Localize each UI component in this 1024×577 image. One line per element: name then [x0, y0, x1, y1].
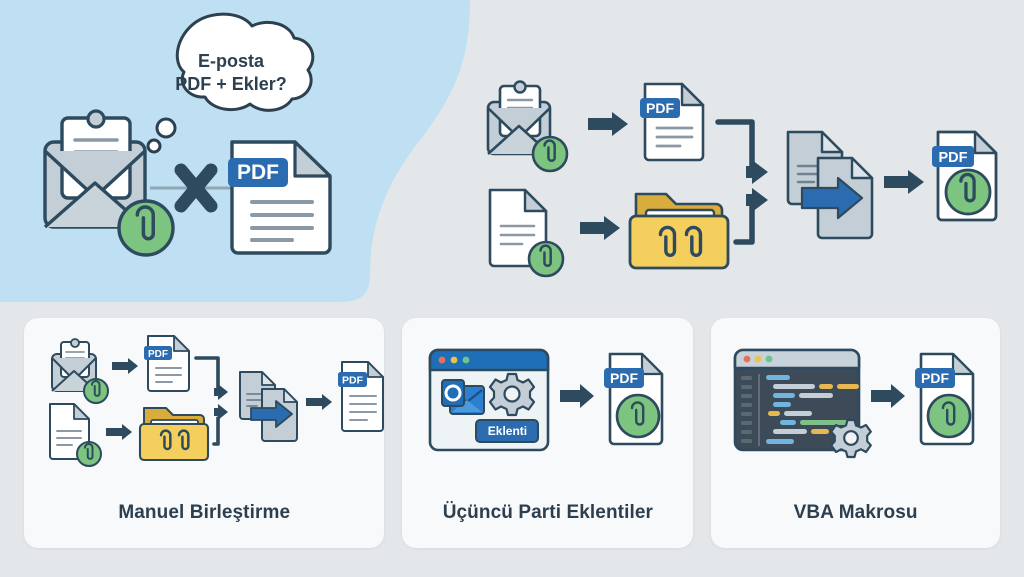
result-pdf-with-attachment-icon: PDF	[932, 132, 996, 220]
editor-dot-maximize	[766, 356, 773, 363]
elbow-connector-top	[718, 122, 752, 170]
eklenti-button-label[interactable]: Eklenti	[476, 420, 538, 442]
svg-text:PDF: PDF	[148, 349, 168, 360]
window-dot-maximize	[463, 357, 470, 364]
paperclip-badge-icon	[946, 170, 990, 214]
card-label-ucuncu-parti-eklentiler: Üçüncü Parti Eklentiler	[402, 502, 693, 524]
card-3-arrow	[871, 384, 905, 408]
card-ucuncu-parti-eklentiler[interactable]: PDF Eklenti Üçüncü Parti Eklentiler	[402, 318, 693, 548]
card-2-artwork: PDF Eklenti	[402, 328, 693, 468]
paperclip-badge-icon	[84, 379, 108, 403]
card-pdf-document-icon: PDF	[144, 336, 189, 391]
thought-bubble-small-1	[157, 119, 175, 137]
flow-envelope-icon	[488, 82, 567, 172]
card-arrow-2	[106, 424, 132, 440]
paperclip-badge-icon	[119, 201, 173, 255]
card-label-manuel-birlestirme: Manuel Birleştirme	[24, 502, 384, 524]
card-2-arrow	[560, 384, 594, 408]
card-manuel-birlestirme[interactable]: PDF	[24, 318, 384, 548]
thought-line-2: PDF + Ekler?	[155, 73, 307, 96]
paperclip-badge-icon	[533, 137, 567, 171]
flow-pdf-document-icon: PDF	[640, 84, 703, 160]
window-dot-minimize	[451, 357, 458, 364]
paperclip-badge-icon	[77, 442, 101, 466]
card-elbow-bottom	[214, 418, 218, 444]
card-1-artwork: PDF	[24, 328, 384, 468]
card-3-artwork: PDF	[711, 328, 1000, 468]
card-3-result-pdf-icon: PDF	[915, 354, 973, 444]
arrow-icon-3	[884, 170, 924, 194]
arrow-icon-1	[588, 112, 628, 136]
card-envelope-icon	[52, 339, 108, 403]
pdf-document-icon: PDF	[228, 142, 330, 253]
arrow-icon-2	[580, 216, 620, 240]
editor-dot-close	[744, 356, 751, 363]
svg-text:PDF: PDF	[646, 100, 674, 116]
paperclip-badge-icon	[529, 242, 563, 276]
card-2-result-pdf-icon: PDF	[604, 354, 662, 444]
card-document-with-attachment-icon	[50, 404, 101, 466]
card-merge-documents-icon	[240, 372, 297, 441]
illustration-canvas: PDF E-posta PDF + Ekler?	[0, 0, 1024, 572]
thought-line-1: E-posta	[155, 50, 307, 73]
thought-bubble-small-2	[148, 140, 160, 152]
elbow-connector-bottom	[736, 202, 752, 242]
card-arrow-3	[306, 394, 332, 410]
card-folder-with-attachments-icon	[140, 408, 208, 460]
flow-diagram: PDF	[470, 70, 1024, 290]
method-cards: PDF	[0, 318, 1024, 548]
gear-icon	[490, 374, 534, 415]
svg-text:PDF: PDF	[939, 150, 968, 166]
envelope-with-attachment-icon	[45, 111, 173, 255]
svg-text:PDF: PDF	[921, 370, 949, 386]
svg-text:PDF: PDF	[342, 375, 364, 387]
card-label-vba-makrosu: VBA Makrosu	[711, 502, 1000, 524]
window-dot-close	[439, 357, 446, 364]
card-vba-makrosu[interactable]: PDF VBA Makrosu	[711, 318, 1000, 548]
card-arrow-1	[112, 358, 138, 374]
card-elbow-top	[196, 358, 218, 390]
merge-documents-icon	[788, 132, 872, 238]
flow-document-with-attachment-icon	[490, 190, 563, 276]
editor-dot-minimize	[755, 356, 762, 363]
folder-with-attachments-icon	[630, 194, 728, 268]
svg-text:PDF: PDF	[610, 370, 638, 386]
pdf-badge-label: PDF	[237, 161, 279, 184]
gear-icon	[831, 420, 871, 457]
thought-bubble-text: E-posta PDF + Ekler?	[155, 50, 307, 95]
code-editor-icon	[735, 350, 871, 457]
card-result-pdf-icon: PDF	[338, 362, 383, 431]
